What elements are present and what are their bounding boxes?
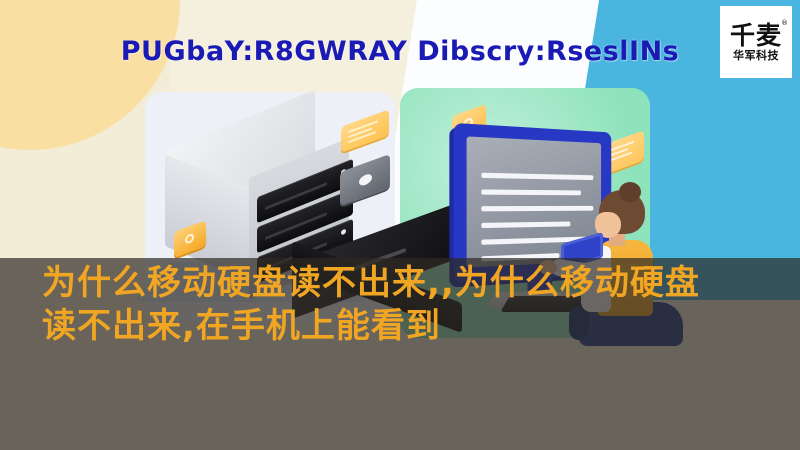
logo-brand-main-text: 千麦: [730, 21, 782, 50]
caption-text: 为什么移动硬盘读不出来,,为什么移动硬盘读不出来,在手机上能看到: [42, 262, 722, 347]
registered-trademark-icon: ®: [781, 20, 789, 27]
person-hair-bun: [619, 182, 641, 202]
logo-brand-sub: 华军科技: [733, 50, 779, 61]
cover-image: PUGbaY:R8GWRAY Dibscry:RseslINs 千麦 ® 华军科…: [0, 0, 800, 450]
watermark-logo: 千麦 ® 华军科技: [720, 6, 792, 78]
page-title: PUGbaY:R8GWRAY Dibscry:RseslINs: [0, 36, 800, 67]
logo-brand-main: 千麦 ®: [730, 23, 782, 48]
